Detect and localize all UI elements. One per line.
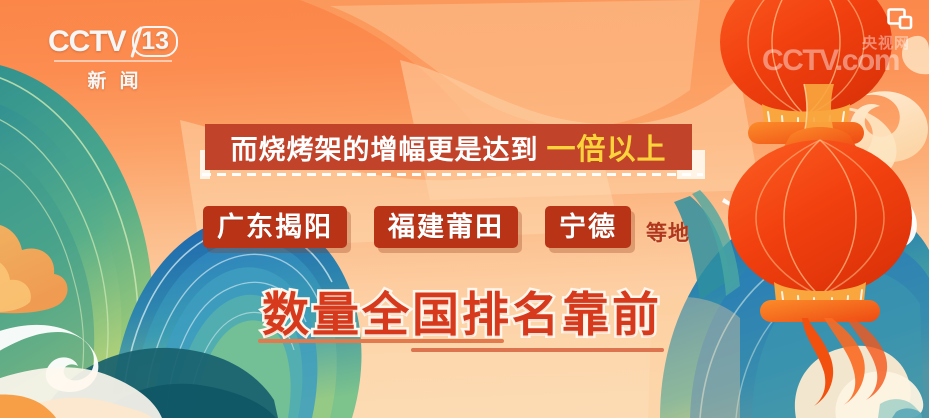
channel-name: 新闻 — [48, 66, 178, 93]
channel-logo-row: CCTV 13 — [48, 26, 178, 57]
logo-slash-icon — [128, 27, 131, 57]
network-name: CCTV — [48, 27, 126, 57]
location-badge: 福建莆田 — [374, 206, 518, 248]
conclusion-underline-secondary — [411, 348, 664, 352]
conclusion-underline-primary — [258, 339, 504, 343]
headline-banner-wrap: 而烧烤架的增幅更是达到 一倍以上 — [200, 124, 705, 180]
location-badges: 广东揭阳 福建莆田 宁德 等地 — [203, 206, 690, 252]
location-badge: 广东揭阳 — [203, 206, 347, 248]
location-badges-suffix: 等地 — [646, 217, 690, 247]
headline-primary-text: 而烧烤架的增幅更是达到 — [230, 128, 538, 167]
headline-highlight-text: 一倍以上 — [546, 126, 666, 168]
location-badge-label: 广东揭阳 — [217, 214, 333, 241]
channel-logo: CCTV 13 新闻 — [48, 26, 178, 93]
location-badge-label: 福建莆田 — [388, 214, 504, 241]
headline-banner: 而烧烤架的增幅更是达到 一倍以上 — [205, 124, 692, 170]
banner-dashed-rule — [202, 173, 703, 176]
logo-underbar — [54, 60, 172, 62]
picture-in-picture-icon[interactable] — [887, 8, 913, 30]
broadcast-graphic: CCTV 13 新闻 CCTV.com 央视网 而烧烤架的增幅更是达到 一倍以上… — [0, 0, 929, 418]
conclusion-headline: 数量全国排名靠前 — [262, 276, 662, 345]
location-badge-label: 宁德 — [559, 214, 617, 241]
location-badge: 宁德 — [545, 206, 631, 248]
